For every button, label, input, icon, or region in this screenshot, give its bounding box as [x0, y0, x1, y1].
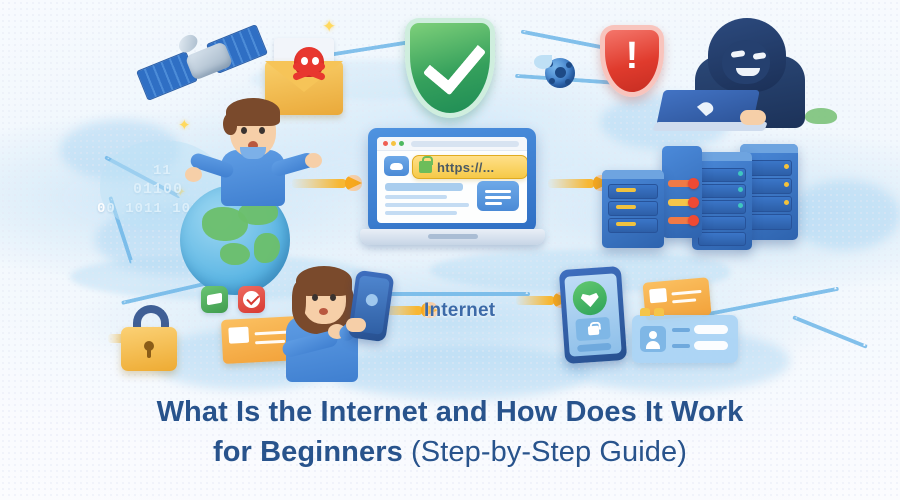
padlock-icon [120, 305, 182, 371]
laptop-figure: https://... [360, 128, 550, 253]
url-text: https://... [437, 160, 494, 175]
content-panel [477, 181, 519, 211]
content-line [385, 211, 457, 215]
woman-figure [268, 258, 398, 383]
profile-panel [632, 315, 738, 363]
cloud-icon [390, 163, 403, 170]
panel-tab [640, 308, 650, 316]
traffic-light-green[interactable] [399, 141, 404, 146]
title-line-2: for Beginners (Step-by-Step Guide) [0, 432, 900, 472]
address-bar[interactable]: https://... [412, 155, 527, 179]
cable-plug [688, 197, 699, 208]
cable-plug [688, 178, 699, 189]
shield-check-icon [405, 18, 495, 118]
browser-chrome-bar [377, 137, 527, 151]
server-rack-icon [600, 142, 800, 257]
hair-strand [292, 282, 306, 322]
hero-illustration-canvas: ✦ ✦ ✦ ✦ [0, 0, 900, 500]
panel-tab [654, 308, 664, 316]
sync-app-icon[interactable] [201, 286, 228, 313]
shield-alert-icon: ! [600, 25, 664, 97]
satellite-icon [140, 28, 270, 98]
traffic-light-red[interactable] [383, 141, 388, 146]
avatar [640, 326, 666, 352]
page-title: What Is the Internet and How Does It Wor… [0, 392, 900, 472]
title-line-2-bold: for Beginners [213, 436, 403, 468]
internet-label: Internet [424, 300, 495, 322]
skull-icon [291, 47, 327, 83]
content-line [385, 183, 463, 191]
verified-app-icon[interactable] [238, 286, 265, 313]
content-line [385, 195, 447, 199]
hacker-figure [660, 18, 820, 133]
content-line [385, 203, 469, 207]
title-line-1: What Is the Internet and How Does It Wor… [0, 392, 900, 432]
sparkle-icon: ✦ [322, 18, 336, 35]
ball-tail [534, 55, 552, 69]
title-line-2-light: (Step-by-Step Guide) [411, 436, 687, 468]
foliage-decor [805, 108, 837, 124]
cable-plug [688, 215, 699, 226]
browser-back-button[interactable] [384, 156, 409, 176]
flow-arrow [292, 175, 362, 192]
dashed-connector [380, 292, 530, 296]
phone-secure-icon [562, 268, 628, 366]
lock-icon [419, 161, 432, 173]
traffic-light-yellow[interactable] [391, 141, 396, 146]
phone-lock-tile [575, 317, 610, 341]
